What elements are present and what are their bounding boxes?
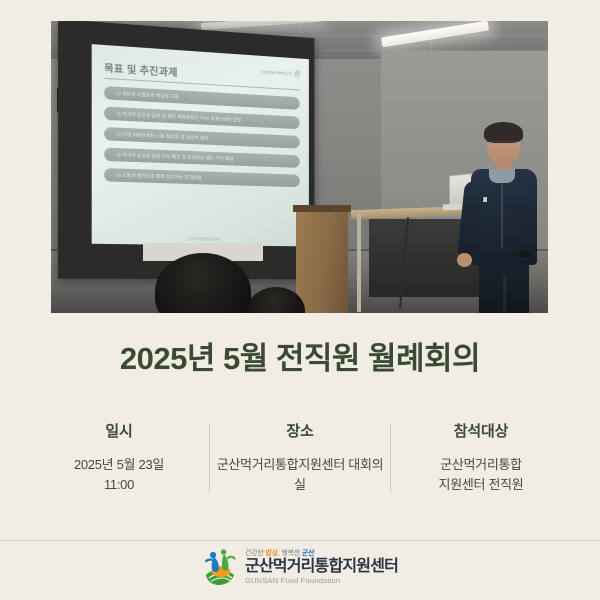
detail-value: 군산먹거리통합지원센터 대회의실 xyxy=(216,455,384,495)
slide-bullet: 4) 먹거리 공공성 강화 인식 제고 및 조직화로 재단 기반 확대 xyxy=(104,148,300,168)
footer-divider xyxy=(0,540,600,541)
detail-value-line: 군산먹거리통합지원센터 대회의실 xyxy=(216,455,384,495)
logo-tagline-part: 건강한 xyxy=(245,550,265,557)
presenter xyxy=(463,125,548,313)
detail-label: 참석대상 xyxy=(397,420,565,441)
logo-tagline-accent-blue: 군산 xyxy=(302,550,314,557)
slide-bullet: 3) 사업 이해관계자 소통 활성화 및 일상적 관리 xyxy=(104,127,300,149)
presenter-watch xyxy=(519,251,531,257)
foundation-logo-text: 건강한 밥상, 행복한 군산 군산먹거리통합지원센터 GUNSAN Food F… xyxy=(245,550,398,585)
presenter-hair xyxy=(484,122,523,143)
foundation-logo-icon xyxy=(202,548,238,586)
detail-value-line: 지원센터 전직원 xyxy=(397,475,565,495)
detail-value-line: 군산먹거리통합 xyxy=(397,455,565,475)
table-leg xyxy=(357,214,361,312)
presenter-hand xyxy=(457,253,472,267)
detail-column-datetime: 일시 2025년 5월 23일 11:00 xyxy=(29,420,209,495)
slide-title: 목표 및 추진과제 xyxy=(104,59,300,86)
detail-label: 일시 xyxy=(35,420,203,441)
logo-tagline: 건강한 밥상, 행복한 군산 xyxy=(245,550,398,557)
detail-label: 장소 xyxy=(216,420,384,441)
projection-screen: 건강한 밥상 행복한 군산 목표 및 추진과제 1) 재단의 자율성과 책임성 … xyxy=(58,21,314,279)
slide-bullet: 2) 먹거리 공공성 강화 및 재단 재정자립도 70% 목표(26년) 설정 xyxy=(104,107,300,130)
detail-column-location: 장소 군산먹거리통합지원센터 대회의실 xyxy=(210,420,390,495)
slide-bullet: 5) 소통과 협력으로 함께 성장하는 조직문화 xyxy=(104,168,300,187)
presenter-glasses xyxy=(487,141,519,146)
podium xyxy=(296,209,348,313)
detail-value: 군산먹거리통합 지원센터 전직원 xyxy=(397,455,565,495)
event-details: 일시 2025년 5월 23일 11:00 장소 군산먹거리통합지원센터 대회의… xyxy=(0,420,600,495)
logo-organization-name: 군산먹거리통합지원센터 xyxy=(245,559,398,575)
logo-english-subtitle: GUNSAN Food Foundation xyxy=(245,577,398,585)
detail-column-attendees: 참석대상 군산먹거리통합 지원센터 전직원 xyxy=(391,420,571,495)
presenter-collar xyxy=(489,169,515,183)
footer-logo: 건강한 밥상, 행복한 군산 군산먹거리통합지원센터 GUNSAN Food F… xyxy=(0,548,600,586)
detail-value-line: 11:00 xyxy=(35,475,203,495)
podium-top xyxy=(293,205,351,212)
presentation-slide: 건강한 밥상 행복한 군산 목표 및 추진과제 1) 재단의 자율성과 책임성 … xyxy=(92,44,309,246)
event-photo: 건강한 밥상 행복한 군산 목표 및 추진과제 1) 재단의 자율성과 책임성 … xyxy=(51,21,548,313)
logo-tagline-accent-warm: 밥상 xyxy=(265,550,277,557)
presenter-jacket-zip xyxy=(501,179,503,249)
logo-tagline-part: , 행복한 xyxy=(278,550,302,557)
meeting-room-photo: 건강한 밥상 행복한 군산 목표 및 추진과제 1) 재단의 자율성과 책임성 … xyxy=(51,21,548,313)
presenter-leg-split xyxy=(503,275,506,313)
page-title: 2025년 5월 전직원 월례회의 xyxy=(0,333,600,378)
detail-value-line: 2025년 5월 23일 xyxy=(35,455,203,475)
projection-screen-surface: 건강한 밥상 행복한 군산 목표 및 추진과제 1) 재단의 자율성과 책임성 … xyxy=(92,44,309,246)
slide-bullet: 1) 재단의 자율성과 책임성 강화 xyxy=(104,86,300,110)
detail-value: 2025년 5월 23일 11:00 xyxy=(35,455,203,495)
slide-footer-logo: 군산먹거리통합지원센터 xyxy=(187,236,221,241)
